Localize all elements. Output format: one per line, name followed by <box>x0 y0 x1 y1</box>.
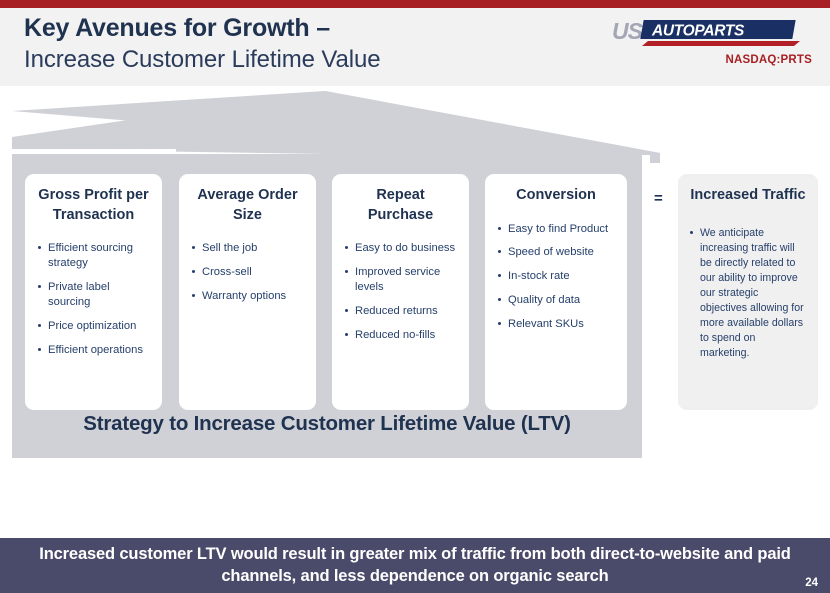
list-item: Price optimization <box>37 319 150 334</box>
us-autoparts-logo-icon: US AUTOPARTS ® <box>612 18 812 50</box>
result-bullet-list: We anticipate increasing traffic will be… <box>689 226 807 361</box>
page-number: 24 <box>805 577 818 589</box>
svg-text:AUTOPARTS: AUTOPARTS <box>651 23 745 40</box>
column-bullet-list: Easy to do business Improved service lev… <box>344 241 457 342</box>
strategy-diagram: Gross Profit per Transaction Efficient s… <box>0 86 830 538</box>
list-item: Efficient operations <box>37 343 150 358</box>
list-item: Cross-sell <box>191 265 304 280</box>
column-card-conversion[interactable]: Conversion Easy to find Product Speed of… <box>485 174 627 410</box>
list-item: Speed of website <box>497 245 615 260</box>
list-item: Easy to do business <box>344 241 457 256</box>
strategy-label: Strategy to Increase Customer Lifetime V… <box>83 412 570 436</box>
column-card-gross-profit[interactable]: Gross Profit per Transaction Efficient s… <box>25 174 162 410</box>
column-bullet-list: Sell the job Cross-sell Warranty options <box>191 241 304 304</box>
svg-text:®: ® <box>788 22 793 29</box>
list-item: Easy to find Product <box>497 222 615 237</box>
result-card-increased-traffic[interactable]: Increased Traffic We anticipate increasi… <box>678 174 818 410</box>
column-title: Conversion <box>497 186 615 206</box>
list-item: Relevant SKUs <box>497 317 615 332</box>
equals-sign: = <box>654 190 663 207</box>
list-item: Improved service levels <box>344 265 457 295</box>
top-accent-bar <box>0 0 830 8</box>
column-card-repeat-purchase[interactable]: Repeat Purchase Easy to do business Impr… <box>332 174 469 410</box>
footer-message: Increased customer LTV would result in g… <box>15 544 815 588</box>
strategy-bar: Strategy to Increase Customer Lifetime V… <box>12 390 642 458</box>
list-item: We anticipate increasing traffic will be… <box>689 226 807 361</box>
company-logo: US AUTOPARTS ® NASDAQ:PRTS <box>602 18 812 74</box>
list-item: In-stock rate <box>497 269 615 284</box>
column-title: Gross Profit per Transaction <box>37 186 150 225</box>
column-title: Average Order Size <box>191 186 304 225</box>
page-title-line-2: Increase Customer Lifetime Value <box>24 46 584 74</box>
column-bullet-list: Easy to find Product Speed of website In… <box>497 222 615 332</box>
column-card-average-order-size[interactable]: Average Order Size Sell the job Cross-se… <box>179 174 316 410</box>
list-item: Private label sourcing <box>37 280 150 310</box>
footer-banner: Increased customer LTV would result in g… <box>0 538 830 593</box>
svg-text:US: US <box>612 18 644 44</box>
column-bullet-list: Efficient sourcing strategy Private labe… <box>37 241 150 357</box>
list-item: Quality of data <box>497 293 615 308</box>
page-title: Key Avenues for Growth – Increase Custom… <box>24 14 584 74</box>
result-title: Increased Traffic <box>689 186 807 206</box>
list-item: Sell the job <box>191 241 304 256</box>
list-item: Warranty options <box>191 289 304 304</box>
column-title: Repeat Purchase <box>344 186 457 225</box>
list-item: Efficient sourcing strategy <box>37 241 150 271</box>
list-item: Reduced no-fills <box>344 328 457 343</box>
list-item: Reduced returns <box>344 304 457 319</box>
page-title-line-1: Key Avenues for Growth – <box>24 14 584 44</box>
nasdaq-ticker: NASDAQ:PRTS <box>602 54 812 66</box>
